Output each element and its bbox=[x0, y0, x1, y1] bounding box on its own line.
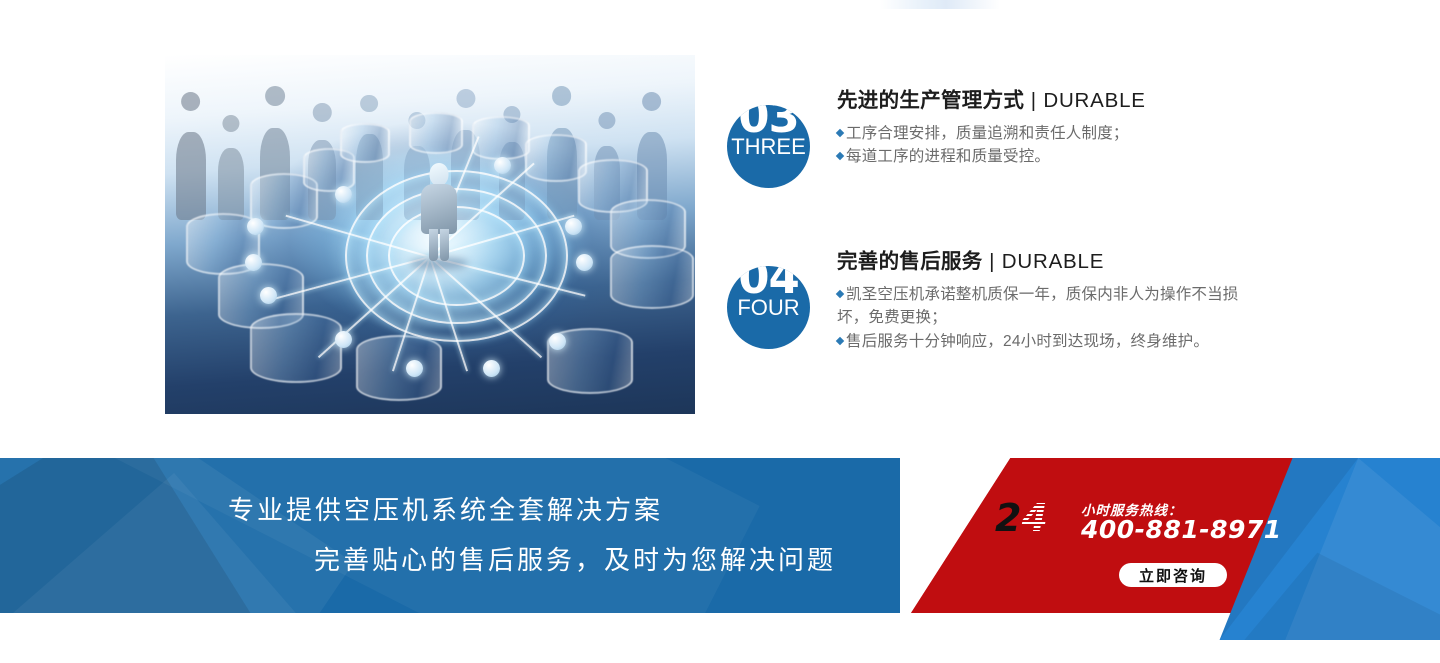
feature-title: 先进的生产管理方式 | DURABLE bbox=[837, 88, 1267, 114]
bottom-cta-banner: 专业提供空压机系统全套解决方案 完善贴心的售后服务，及时为您解决问题 bbox=[0, 458, 1440, 640]
diamond-bullet-icon bbox=[836, 152, 844, 160]
feature-title-en: DURABLE bbox=[1002, 250, 1104, 273]
feature-bullet-line: 每道工序的进程和质量受控。 bbox=[837, 145, 1267, 169]
feature-line-text: 售后服务十分钟响应，24小时到达现场，终身维护。 bbox=[846, 333, 1209, 350]
badge-word: FOUR bbox=[727, 297, 810, 319]
page-root: 03 THREE 先进的生产管理方式 | DURABLE 工序合理安排，质量追溯… bbox=[0, 0, 1440, 663]
feature-badge-03: 03 THREE bbox=[727, 105, 810, 188]
diamond-bullet-icon bbox=[836, 336, 844, 344]
hotline-digit-4: 4 bbox=[1021, 496, 1047, 540]
hotline-24-logo: 24 bbox=[995, 499, 1048, 537]
feature-list: 03 THREE 先进的生产管理方式 | DURABLE 工序合理安排，质量追溯… bbox=[727, 88, 1267, 353]
feature-title-cn: 先进的生产管理方式 bbox=[837, 89, 1024, 112]
feature-title: 完善的售后服务 | DURABLE bbox=[837, 249, 1267, 275]
feature-title-cn: 完善的售后服务 bbox=[837, 250, 983, 273]
banner-slogan-line-1: 专业提供空压机系统全套解决方案 bbox=[228, 493, 663, 528]
feature-bullet-line: 凯圣空压机承诺整机质保一年，质保内非人为操作不当损坏，免费更换； bbox=[837, 283, 1267, 330]
top-edge-remnant bbox=[880, 0, 1000, 9]
feature-item-03: 03 THREE 先进的生产管理方式 | DURABLE 工序合理安排，质量追溯… bbox=[727, 88, 1267, 186]
feature-lines: 工序合理安排，质量追溯和责任人制度； 每道工序的进程和质量受控。 bbox=[837, 122, 1267, 169]
banner-slogan: 专业提供空压机系统全套解决方案 完善贴心的售后服务，及时为您解决问题 bbox=[0, 458, 940, 613]
feature-lines: 凯圣空压机承诺整机质保一年，质保内非人为操作不当损坏，免费更换； 售后服务十分钟… bbox=[837, 283, 1267, 354]
hero-image bbox=[165, 55, 695, 414]
feature-item-04: 04 FOUR 完善的售后服务 | DURABLE 凯圣空压机承诺整机质保一年，… bbox=[727, 249, 1267, 353]
consult-now-button[interactable]: 立即咨询 bbox=[1119, 563, 1227, 587]
badge-word: THREE bbox=[727, 136, 810, 158]
banner-right-blue-shape bbox=[1148, 458, 1440, 640]
banner-slogan-line-2: 完善贴心的售后服务，及时为您解决问题 bbox=[314, 543, 836, 578]
hotline-digit-2: 2 bbox=[995, 496, 1021, 540]
central-person-figure bbox=[421, 163, 457, 259]
feature-line-text: 每道工序的进程和质量受控。 bbox=[846, 148, 1050, 165]
diamond-bullet-icon bbox=[836, 289, 844, 297]
hotline-row: 24 小时服务热线： 400-881-8971 bbox=[995, 497, 1295, 549]
hotline-number[interactable]: 400-881-8971 bbox=[1081, 515, 1282, 544]
feature-line-text: 工序合理安排，质量追溯和责任人制度； bbox=[846, 125, 1129, 142]
feature-bullet-line: 售后服务十分钟响应，24小时到达现场，终身维护。 bbox=[837, 330, 1267, 354]
feature-bullet-line: 工序合理安排，质量追溯和责任人制度； bbox=[837, 122, 1267, 146]
feature-title-en: DURABLE bbox=[1043, 89, 1145, 112]
feature-line-text: 凯圣空压机承诺整机质保一年，质保内非人为操作不当损坏，免费更换； bbox=[837, 286, 1239, 327]
feature-badge-04: 04 FOUR bbox=[727, 266, 810, 349]
contact-block: 24 小时服务热线： 400-881-8971 立即咨询 bbox=[995, 497, 1295, 549]
diamond-bullet-icon bbox=[836, 128, 844, 136]
